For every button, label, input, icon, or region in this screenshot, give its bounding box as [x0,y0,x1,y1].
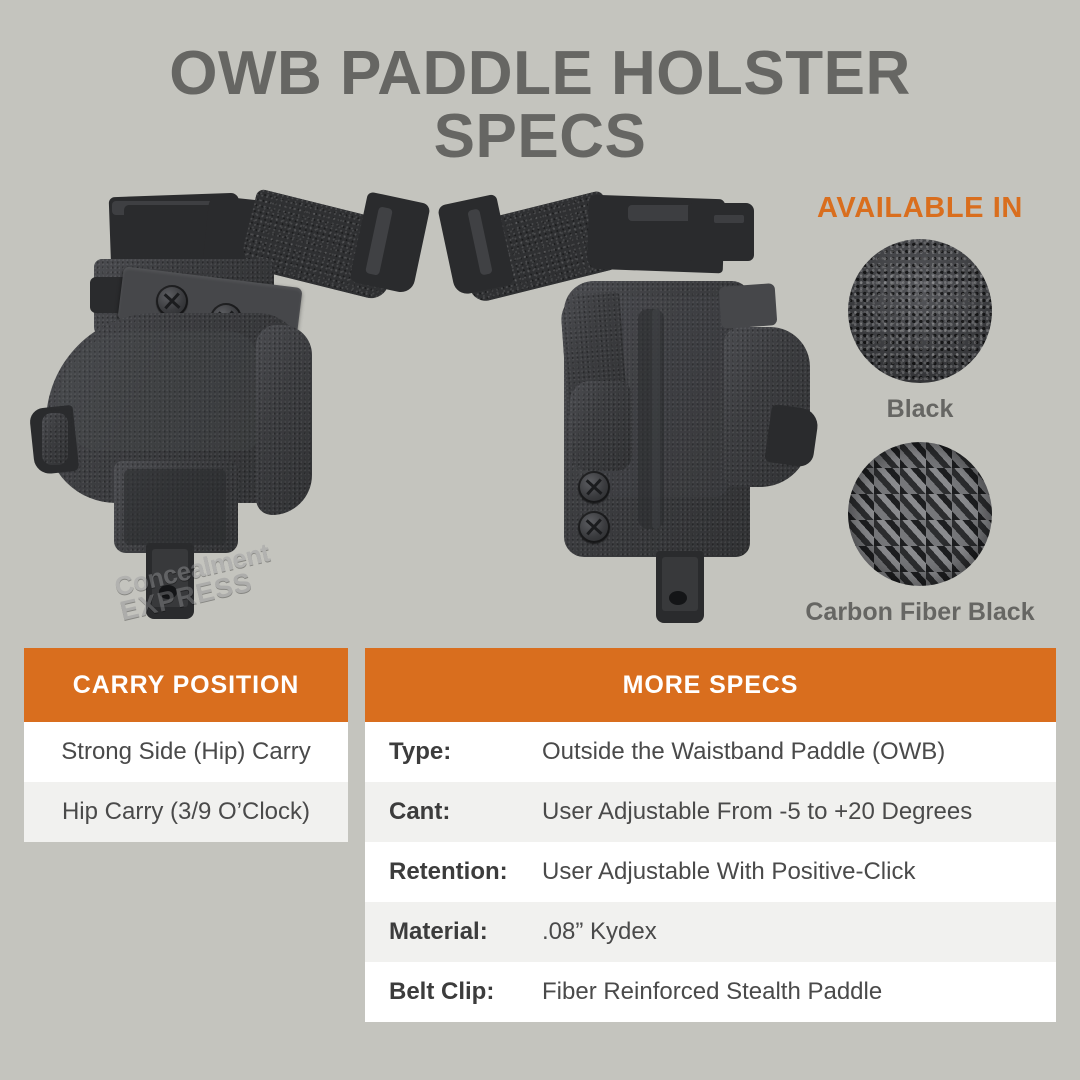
more-specs-table: MORE SPECS Type: Outside the Waistband P… [365,648,1056,1022]
spec-label: Belt Clip: [389,978,542,1006]
color-option-carbon-fiber-black[interactable]: Carbon Fiber Black [770,442,1070,627]
available-colors-section: AVAILABLE IN Black Carbon Fiber Black [770,192,1070,627]
spec-value: User Adjustable With Positive-Click [542,858,915,886]
spec-value: Fiber Reinforced Stealth Paddle [542,978,882,1006]
retention-screw-lower [578,511,610,543]
black-swatch-icon[interactable] [848,239,992,383]
available-in-heading: AVAILABLE IN [770,192,1070,225]
spec-row-retention: Retention: User Adjustable With Positive… [365,842,1056,902]
carry-position-table: CARRY POSITION Strong Side (Hip) Carry H… [24,648,348,842]
emboss-line-2: EXPRESS [118,562,287,625]
carbon-fiber-swatch-label: Carbon Fiber Black [770,598,1070,627]
spec-row-belt-clip: Belt Clip: Fiber Reinforced Stealth Padd… [365,962,1056,1022]
carry-position-header: CARRY POSITION [24,648,348,722]
spec-value: .08” Kydex [542,918,657,946]
spec-label: Type: [389,738,542,766]
color-option-black[interactable]: Black [770,239,1070,424]
spec-row-type: Type: Outside the Waistband Paddle (OWB) [365,722,1056,782]
carbon-fiber-swatch-icon[interactable] [848,442,992,586]
spec-row-cant: Cant: User Adjustable From -5 to +20 Deg… [365,782,1056,842]
black-swatch-label: Black [770,395,1070,424]
page-title-line-1: OWB PADDLE HOLSTER [0,42,1080,105]
spec-label: Material: [389,918,542,946]
holster-front-view: Concealment EXPRESS [28,185,428,630]
retention-screw-upper [578,471,610,503]
carry-position-row: Hip Carry (3/9 O’Clock) [24,782,348,842]
page-title: OWB PADDLE HOLSTER SPECS [0,42,1080,168]
spec-label: Retention: [389,858,542,886]
spec-value: Outside the Waistband Paddle (OWB) [542,738,945,766]
spec-row-material: Material: .08” Kydex [365,902,1056,962]
spec-value: User Adjustable From -5 to +20 Degrees [542,798,972,826]
more-specs-header: MORE SPECS [365,648,1056,722]
spec-label: Cant: [389,798,542,826]
page-title-line-2: SPECS [0,105,1080,168]
carry-position-row: Strong Side (Hip) Carry [24,722,348,782]
